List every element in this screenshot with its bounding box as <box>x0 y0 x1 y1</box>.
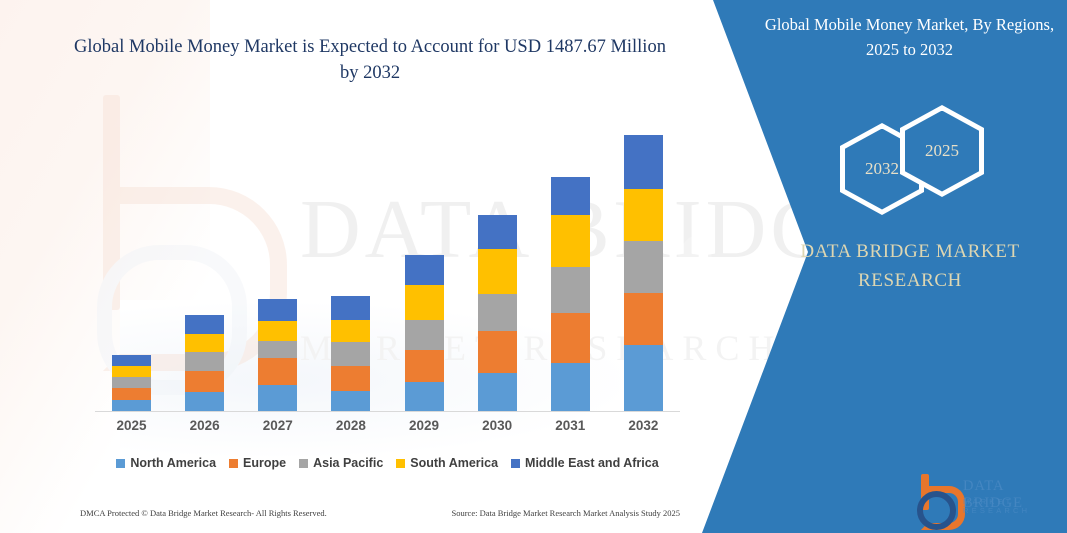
bar-segment[interactable] <box>624 241 663 293</box>
bar-segment[interactable] <box>551 363 590 411</box>
bar-column-2030 <box>461 111 534 411</box>
bar-segment[interactable] <box>331 366 370 391</box>
panel-brand-line1: DATA BRIDGE MARKET <box>770 237 1050 266</box>
bar-column-2026 <box>168 111 241 411</box>
x-tick-2031: 2031 <box>534 418 607 433</box>
bar-segment[interactable] <box>112 388 151 400</box>
legend-swatch-icon <box>299 459 308 468</box>
bar-column-2028 <box>314 111 387 411</box>
bar-segment[interactable] <box>185 315 224 334</box>
data-bridge-logo: DATA BRIDGE MARKET RESEARCH <box>915 472 1063 520</box>
bar-segment[interactable] <box>405 320 444 350</box>
bar-segment[interactable] <box>405 255 444 285</box>
panel-brand-name: DATA BRIDGE MARKET RESEARCH <box>770 237 1050 295</box>
bar-segment[interactable] <box>551 215 590 267</box>
stacked-bar[interactable] <box>112 355 151 411</box>
bar-segment[interactable] <box>185 352 224 371</box>
bar-segment[interactable] <box>258 299 297 321</box>
footer: DMCA Protected © Data Bridge Market Rese… <box>80 508 680 518</box>
bar-segment[interactable] <box>258 321 297 341</box>
stacked-bars-group <box>95 111 680 411</box>
bar-segment[interactable] <box>624 345 663 411</box>
bar-segment[interactable] <box>551 177 590 215</box>
bar-segment[interactable] <box>478 249 517 294</box>
stacked-bar[interactable] <box>405 255 444 411</box>
bar-segment[interactable] <box>112 377 151 388</box>
footer-source: Source: Data Bridge Market Research Mark… <box>451 508 680 518</box>
stacked-bar[interactable] <box>258 299 297 411</box>
legend-item[interactable]: South America <box>396 456 498 470</box>
bar-segment[interactable] <box>331 320 370 342</box>
bar-segment[interactable] <box>258 385 297 411</box>
hexagon-badge-2032-label: 2032 <box>865 159 899 179</box>
x-tick-2026: 2026 <box>168 418 241 433</box>
bar-segment[interactable] <box>185 371 224 392</box>
panel-brand-line2: RESEARCH <box>770 266 1050 295</box>
x-tick-2025: 2025 <box>95 418 168 433</box>
x-tick-2032: 2032 <box>607 418 680 433</box>
x-axis-baseline <box>95 411 680 412</box>
logo-text-line2: MARKET RESEARCH <box>963 497 1063 515</box>
legend-swatch-icon <box>396 459 405 468</box>
bar-column-2032 <box>607 111 680 411</box>
x-axis-tick-labels: 20252026202720282029203020312032 <box>95 418 680 433</box>
hexagon-badge-2025: 2025 <box>900 105 984 197</box>
bar-segment[interactable] <box>551 313 590 363</box>
legend-item[interactable]: Europe <box>229 456 286 470</box>
bar-segment[interactable] <box>258 358 297 385</box>
legend-label: Middle East and Africa <box>525 456 659 470</box>
bar-segment[interactable] <box>405 350 444 382</box>
stacked-bar[interactable] <box>185 315 224 411</box>
bar-segment[interactable] <box>551 267 590 313</box>
hexagon-badge-2025-label: 2025 <box>925 141 959 161</box>
bar-segment[interactable] <box>478 294 517 331</box>
bar-segment[interactable] <box>331 296 370 320</box>
bar-segment[interactable] <box>478 373 517 411</box>
legend-label: North America <box>130 456 216 470</box>
hexagon-badges: 2032 2025 <box>820 105 1010 215</box>
legend-item[interactable]: Asia Pacific <box>299 456 383 470</box>
data-bridge-logo-mark-icon <box>915 474 959 516</box>
legend-swatch-icon <box>229 459 238 468</box>
bar-segment[interactable] <box>405 382 444 411</box>
bar-column-2029 <box>388 111 461 411</box>
chart-legend: North AmericaEuropeAsia PacificSouth Ame… <box>95 456 680 470</box>
infographic-canvas: DATA BRIDGE MARKET RESEARCH Global Mobil… <box>0 0 1067 533</box>
legend-item[interactable]: North America <box>116 456 216 470</box>
x-tick-2029: 2029 <box>388 418 461 433</box>
legend-label: Europe <box>243 456 286 470</box>
bar-segment[interactable] <box>331 391 370 411</box>
bar-segment[interactable] <box>624 135 663 189</box>
stacked-bar[interactable] <box>624 135 663 411</box>
legend-label: South America <box>410 456 498 470</box>
bar-segment[interactable] <box>624 189 663 241</box>
x-tick-2030: 2030 <box>461 418 534 433</box>
bar-column-2027 <box>241 111 314 411</box>
panel-accent-circle <box>676 236 714 314</box>
x-tick-2028: 2028 <box>314 418 387 433</box>
bar-segment[interactable] <box>624 293 663 345</box>
bar-column-2025 <box>95 111 168 411</box>
panel-title: Global Mobile Money Market, By Regions, … <box>762 12 1057 62</box>
stacked-bar[interactable] <box>551 177 590 411</box>
legend-swatch-icon <box>511 459 520 468</box>
bar-segment[interactable] <box>112 355 151 366</box>
legend-label: Asia Pacific <box>313 456 383 470</box>
legend-item[interactable]: Middle East and Africa <box>511 456 659 470</box>
bar-segment[interactable] <box>258 341 297 358</box>
bar-segment[interactable] <box>331 342 370 366</box>
x-tick-2027: 2027 <box>241 418 314 433</box>
chart-title: Global Mobile Money Market is Expected t… <box>70 34 670 86</box>
stacked-bar[interactable] <box>331 296 370 411</box>
bar-column-2031 <box>534 111 607 411</box>
bar-segment[interactable] <box>112 400 151 411</box>
bar-segment[interactable] <box>185 334 224 352</box>
legend-swatch-icon <box>116 459 125 468</box>
stacked-bar[interactable] <box>478 215 517 411</box>
bar-segment[interactable] <box>185 392 224 411</box>
bar-segment[interactable] <box>112 366 151 377</box>
footer-copyright: DMCA Protected © Data Bridge Market Rese… <box>80 508 327 518</box>
chart-plot-area <box>95 110 680 412</box>
bar-segment[interactable] <box>478 331 517 373</box>
bar-segment[interactable] <box>478 215 517 249</box>
bar-segment[interactable] <box>405 285 444 320</box>
